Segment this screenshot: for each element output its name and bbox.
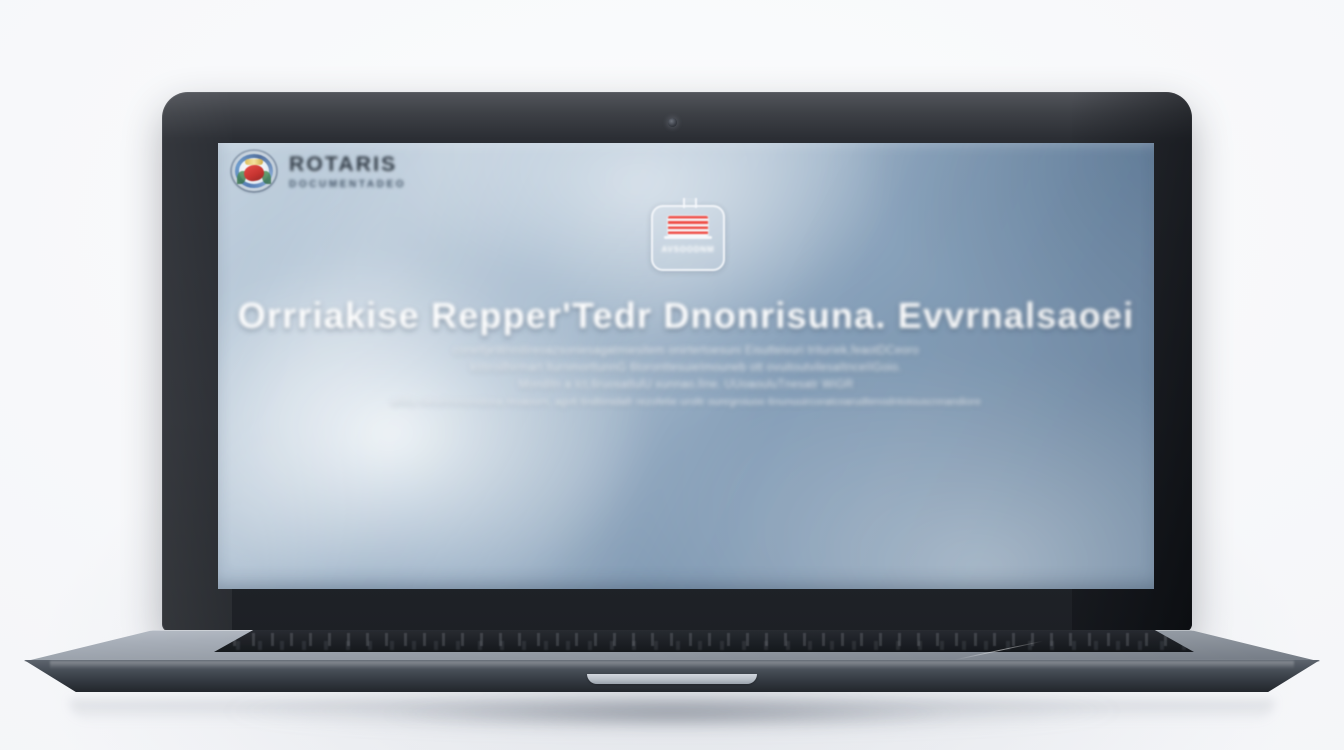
- badge-base-bar: [664, 236, 712, 239]
- body-line-1: conettjeWnnitireoazsoniesagatmiesitem on…: [308, 343, 1064, 360]
- badge-caption: AVSOODNM: [653, 245, 723, 254]
- badge-flag-icon: [668, 216, 708, 236]
- page-title: Orrriakise Repper'Tedr Dnonrisuna. Evvrn…: [218, 295, 1154, 337]
- government-crest-icon: [232, 151, 276, 191]
- keyboard-well: [214, 630, 1194, 652]
- body-line-3: Monditn a Ict,6ruosatlulU xunnao.lIne. U…: [308, 377, 1064, 394]
- brand-name: ROTARIS: [289, 153, 406, 177]
- brand-subtitle: DOCUMENTADEO: [289, 179, 406, 190]
- laptop-base: [24, 630, 1320, 702]
- body-line-2: ktitiroilhirmart lturnmorttunnG 6torontt…: [308, 360, 1064, 377]
- body-copy: conettjeWnnitireoazsoniesagatmiesitem on…: [308, 343, 1064, 411]
- webcam-icon: [668, 118, 677, 127]
- badge-stem: [683, 198, 697, 208]
- certificate-badge-icon: AVSOODNM: [651, 205, 725, 271]
- brand-text: ROTARIS DOCUMENTADEO: [289, 153, 406, 190]
- body-line-4: whita nieselmmonidona reoaourn, agvti ti…: [308, 394, 1064, 411]
- base-reflection: [70, 700, 1274, 722]
- lid-latch-notch: [587, 674, 757, 684]
- brand-lockup[interactable]: ROTARIS DOCUMENTADEO: [232, 151, 406, 191]
- keyboard-key-row-bottom: [214, 641, 1194, 650]
- document-page: ROTARIS DOCUMENTADEO AVSOODNM Orrriakise…: [218, 143, 1154, 589]
- lid-sheen: [162, 92, 1192, 138]
- screenshot-stage: ROTARIS DOCUMENTADEO AVSOODNM Orrriakise…: [0, 0, 1344, 750]
- palm-rest-gloss: [50, 661, 1294, 669]
- laptop-screen: ROTARIS DOCUMENTADEO AVSOODNM Orrriakise…: [218, 143, 1154, 589]
